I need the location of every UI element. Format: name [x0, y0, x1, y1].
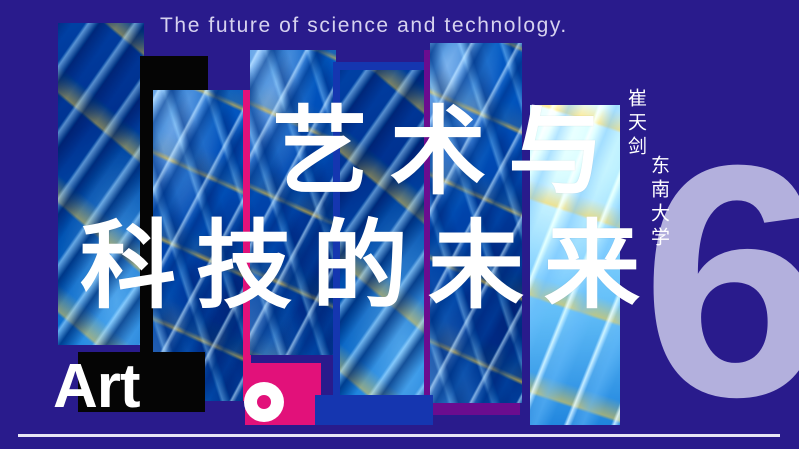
blue-block-bottom: [315, 395, 433, 425]
tagline: The future of science and technology.: [160, 14, 568, 38]
author-organization: 东南大学: [646, 155, 673, 251]
author-name: 崔天剑: [623, 88, 650, 160]
title-line-2: 科技的未来: [80, 218, 660, 314]
black-box-top: [150, 56, 208, 90]
title-line-1: 艺术与: [272, 104, 626, 200]
baseline-rule: [18, 434, 780, 437]
donut-shape-icon: [244, 382, 284, 422]
slide-poster: 6 The future of science and technology. …: [0, 0, 799, 449]
latin-wordmark: Art: [53, 356, 140, 418]
